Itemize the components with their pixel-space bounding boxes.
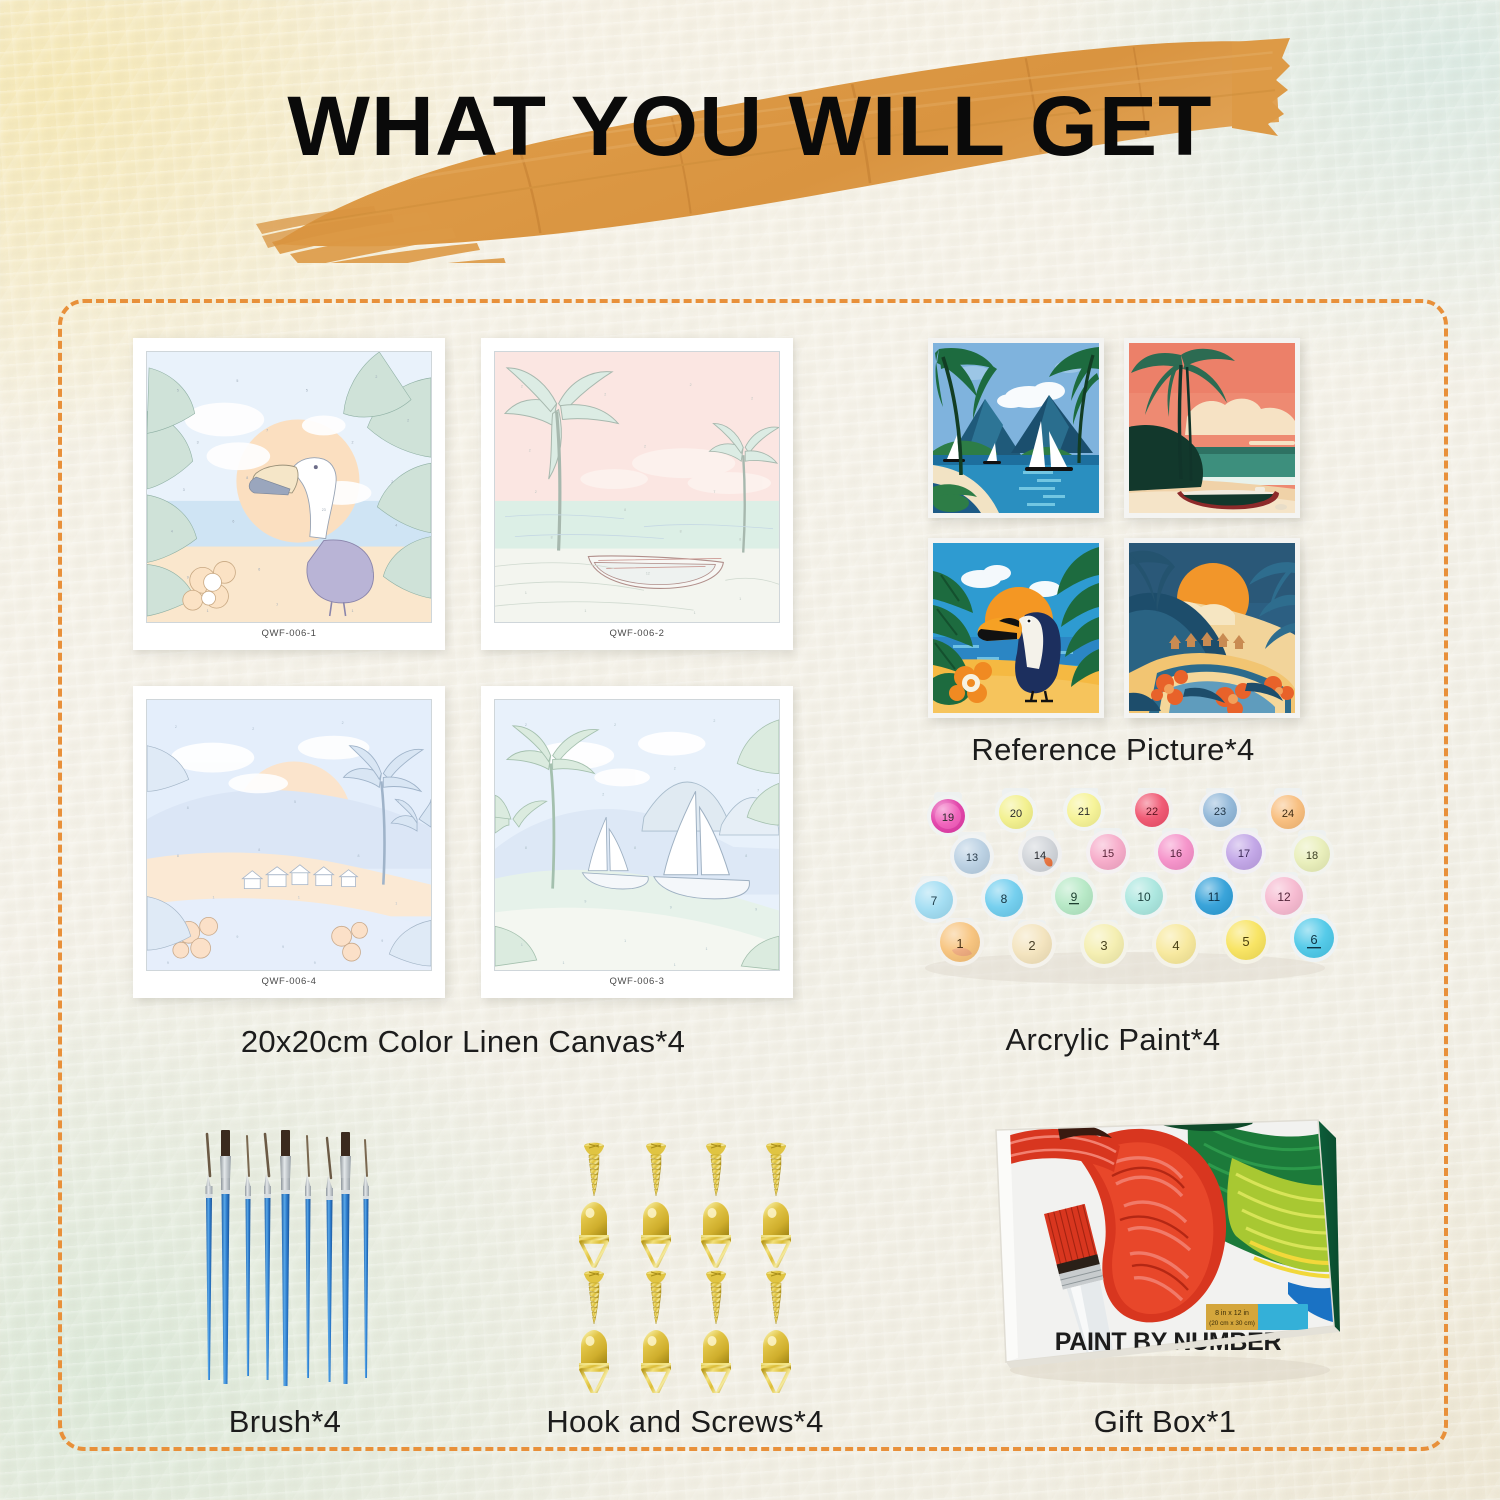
svg-text:9: 9 <box>314 961 316 965</box>
canvas-card: 555 237 22 382 464 969 171 2320 QWF-006-… <box>133 338 445 650</box>
svg-text:8: 8 <box>246 476 248 480</box>
caption-brush: Brush*4 <box>150 1404 420 1440</box>
svg-text:19: 19 <box>942 812 954 824</box>
svg-text:24: 24 <box>1282 808 1294 820</box>
page-title: WHAT YOU WILL GET <box>0 78 1500 175</box>
svg-text:5: 5 <box>177 389 179 393</box>
svg-text:23: 23 <box>1214 806 1226 818</box>
svg-text:8: 8 <box>1001 892 1008 906</box>
header: WHAT YOU WILL GET <box>0 0 1500 290</box>
svg-text:11: 11 <box>1208 890 1221 904</box>
svg-text:23: 23 <box>322 508 326 512</box>
svg-text:3: 3 <box>1100 938 1107 953</box>
svg-text:13: 13 <box>966 852 978 864</box>
caption-hooks: Hook and Screws*4 <box>500 1404 870 1440</box>
svg-text:6: 6 <box>1310 932 1317 947</box>
svg-text:2: 2 <box>713 719 715 723</box>
svg-text:8: 8 <box>551 536 553 540</box>
svg-text:3: 3 <box>197 440 199 444</box>
svg-text:8: 8 <box>624 508 626 512</box>
canvas-line-art-sailboat: 222 227 888 999 111 11 <box>494 699 780 971</box>
svg-text:8: 8 <box>745 854 747 858</box>
canvas-code: QWF-006-4 <box>146 976 432 987</box>
svg-text:6: 6 <box>258 567 260 571</box>
svg-text:8: 8 <box>357 854 359 858</box>
reference-card-red-boat <box>1124 338 1300 518</box>
svg-text:2: 2 <box>407 418 409 422</box>
svg-text:14: 14 <box>1034 850 1046 862</box>
svg-text:9: 9 <box>1071 890 1078 904</box>
svg-text:7: 7 <box>276 603 278 607</box>
svg-text:1: 1 <box>624 939 626 943</box>
canvas-grid: 555 237 22 382 464 969 171 2320 QWF-006-… <box>133 338 793 998</box>
svg-text:2: 2 <box>690 383 692 387</box>
svg-text:9: 9 <box>755 907 757 911</box>
svg-text:1: 1 <box>525 591 527 595</box>
svg-text:2: 2 <box>535 490 537 494</box>
paint-pot-tray: 19 20 21 22 23 24 13 14 15 16 17 18 7 8 … <box>910 788 1340 988</box>
svg-text:1: 1 <box>739 597 741 601</box>
svg-text:1: 1 <box>213 896 215 900</box>
svg-text:2: 2 <box>1028 938 1035 953</box>
gift-box-size-line2: (20 cm x 30 cm) <box>1209 1320 1255 1327</box>
svg-text:1: 1 <box>521 943 523 947</box>
svg-text:1: 1 <box>694 611 696 615</box>
svg-text:20: 20 <box>1010 808 1022 820</box>
reference-card-toucan <box>928 538 1104 718</box>
svg-text:8: 8 <box>680 530 682 534</box>
svg-text:9: 9 <box>670 905 672 909</box>
svg-text:12: 12 <box>646 571 650 575</box>
canvas-line-art-toucan: 555 237 22 382 464 969 171 2320 <box>146 351 432 623</box>
caption-gift: Gift Box*1 <box>1000 1404 1330 1440</box>
canvas-card: 222 227 888 999 111 11 QWF-006-3 <box>481 686 793 998</box>
svg-text:7: 7 <box>931 894 938 908</box>
svg-text:2: 2 <box>529 448 531 452</box>
canvas-card: 222 857 888 111 999 99 QWF-006-4 <box>133 686 445 998</box>
svg-text:2: 2 <box>602 792 604 796</box>
svg-text:7: 7 <box>266 428 268 432</box>
svg-text:2: 2 <box>751 397 753 401</box>
svg-text:2: 2 <box>342 721 344 725</box>
svg-text:9: 9 <box>282 945 284 949</box>
svg-text:2: 2 <box>525 723 527 727</box>
svg-text:9: 9 <box>381 939 383 943</box>
reference-picture-grid <box>928 338 1298 720</box>
canvas-code: QWF-006-3 <box>494 976 780 987</box>
svg-text:9: 9 <box>584 900 586 904</box>
svg-text:1: 1 <box>584 609 586 613</box>
svg-text:1: 1 <box>705 947 707 951</box>
svg-text:6: 6 <box>232 520 234 524</box>
svg-text:22: 22 <box>1146 806 1158 818</box>
gift-box-size-line1: 8 in x 12 in <box>1215 1310 1249 1317</box>
svg-text:8: 8 <box>258 848 260 852</box>
svg-text:5: 5 <box>1242 934 1249 949</box>
svg-text:9: 9 <box>187 575 189 579</box>
hook-and-screw-set <box>560 1138 810 1393</box>
svg-text:9: 9 <box>167 961 169 965</box>
svg-text:2: 2 <box>391 480 393 484</box>
svg-text:2: 2 <box>252 727 254 731</box>
svg-text:21: 21 <box>1078 806 1090 818</box>
caption-reference: Reference Picture*4 <box>908 732 1318 768</box>
svg-text:2: 2 <box>614 723 616 727</box>
svg-text:1: 1 <box>207 609 209 613</box>
svg-text:8: 8 <box>634 846 636 850</box>
svg-text:17: 17 <box>1238 848 1250 860</box>
svg-text:2: 2 <box>674 766 676 770</box>
svg-text:4: 4 <box>171 530 173 534</box>
svg-text:9: 9 <box>371 569 373 573</box>
canvas-line-art-boat: 222 222 728 888 1121 11 <box>494 351 780 623</box>
svg-text:16: 16 <box>1170 848 1182 860</box>
svg-text:5: 5 <box>236 379 238 383</box>
svg-text:4: 4 <box>1172 938 1179 953</box>
canvas-code: QWF-006-2 <box>494 628 780 639</box>
svg-text:18: 18 <box>1306 850 1318 862</box>
svg-text:8: 8 <box>525 846 527 850</box>
svg-text:1: 1 <box>395 901 397 905</box>
caption-canvas: 20x20cm Color Linen Canvas*4 <box>133 1024 793 1060</box>
svg-text:7: 7 <box>757 788 759 792</box>
svg-text:10: 10 <box>1137 890 1151 904</box>
svg-text:20: 20 <box>270 486 274 490</box>
svg-text:8: 8 <box>739 538 741 542</box>
svg-text:2: 2 <box>352 440 354 444</box>
caption-paint: Arcrylic Paint*4 <box>908 1022 1318 1058</box>
svg-text:2: 2 <box>604 393 606 397</box>
gift-box: 8 in x 12 in (20 cm x 30 cm) PAINT BY NU… <box>988 1118 1344 1393</box>
canvas-card: 222 222 728 888 1121 11 QWF-006-2 <box>481 338 793 650</box>
svg-text:1: 1 <box>674 963 676 967</box>
canvas-line-art-bay: 222 857 888 111 999 99 <box>146 699 432 971</box>
svg-text:15: 15 <box>1102 848 1114 860</box>
svg-text:4: 4 <box>395 524 397 528</box>
svg-text:2: 2 <box>175 725 177 729</box>
svg-text:2: 2 <box>521 385 523 389</box>
reference-card-sunset-bay <box>1124 538 1300 718</box>
canvas-code: QWF-006-1 <box>146 628 432 639</box>
svg-text:1: 1 <box>352 609 354 613</box>
svg-text:1: 1 <box>956 936 963 951</box>
svg-text:1: 1 <box>298 896 300 900</box>
brush-set <box>185 1128 385 1396</box>
svg-text:3: 3 <box>183 488 185 492</box>
svg-text:5: 5 <box>306 389 308 393</box>
svg-text:2: 2 <box>644 444 646 448</box>
svg-text:5: 5 <box>294 800 296 804</box>
svg-text:9: 9 <box>236 935 238 939</box>
svg-text:7: 7 <box>397 800 399 804</box>
reference-card-sailboats <box>928 338 1104 518</box>
svg-text:2: 2 <box>375 375 377 379</box>
svg-text:8: 8 <box>187 806 189 810</box>
svg-text:8: 8 <box>177 854 179 858</box>
svg-text:7: 7 <box>713 490 715 494</box>
svg-text:12: 12 <box>1277 890 1291 904</box>
svg-text:1: 1 <box>563 961 565 965</box>
